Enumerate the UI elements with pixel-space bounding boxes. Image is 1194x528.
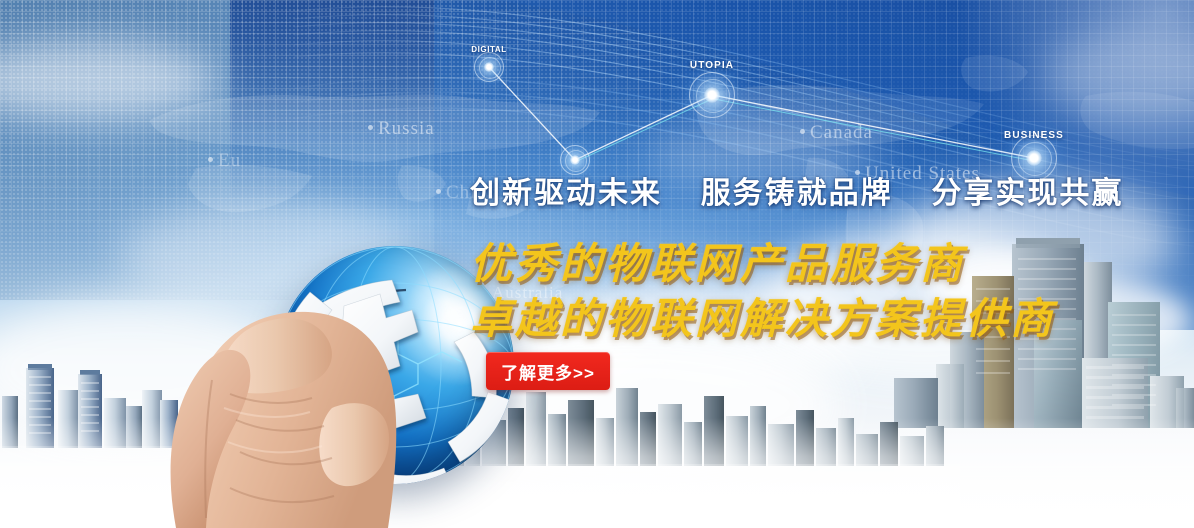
network-node-digital[interactable] [474, 52, 504, 82]
headline-text: 创新驱动未来 服务铸就品牌 分享实现共赢 [470, 168, 1123, 212]
network-node-label-business: BUSINESS [1004, 130, 1064, 141]
node-glow-core [1026, 150, 1042, 166]
network-node-label-utopia: UTOPIA [690, 60, 734, 71]
node-glow-core [704, 87, 720, 103]
learn-more-button[interactable]: 了解更多>> [486, 352, 610, 390]
hand-graphic [80, 108, 480, 528]
subheadline-line-2: 卓越的物联网解决方案提供商 [470, 285, 1055, 346]
node-glow-core [570, 155, 580, 165]
headline-part-3: 分享实现共赢 [931, 177, 1123, 210]
headline-part-2: 服务铸就品牌 [701, 177, 893, 210]
hand-holding-globe [80, 108, 480, 528]
headline-part-1: 创新驱动未来 [470, 177, 662, 210]
network-node-utopia[interactable] [689, 72, 735, 118]
node-glow-core [484, 62, 494, 72]
subheadline-line-1: 优秀的物联网产品服务商 [470, 230, 965, 291]
network-node-label-digital: DIGITAL [471, 45, 507, 54]
hero-banner: Russia Eu Chin Canada United States Aust… [0, 0, 1194, 528]
